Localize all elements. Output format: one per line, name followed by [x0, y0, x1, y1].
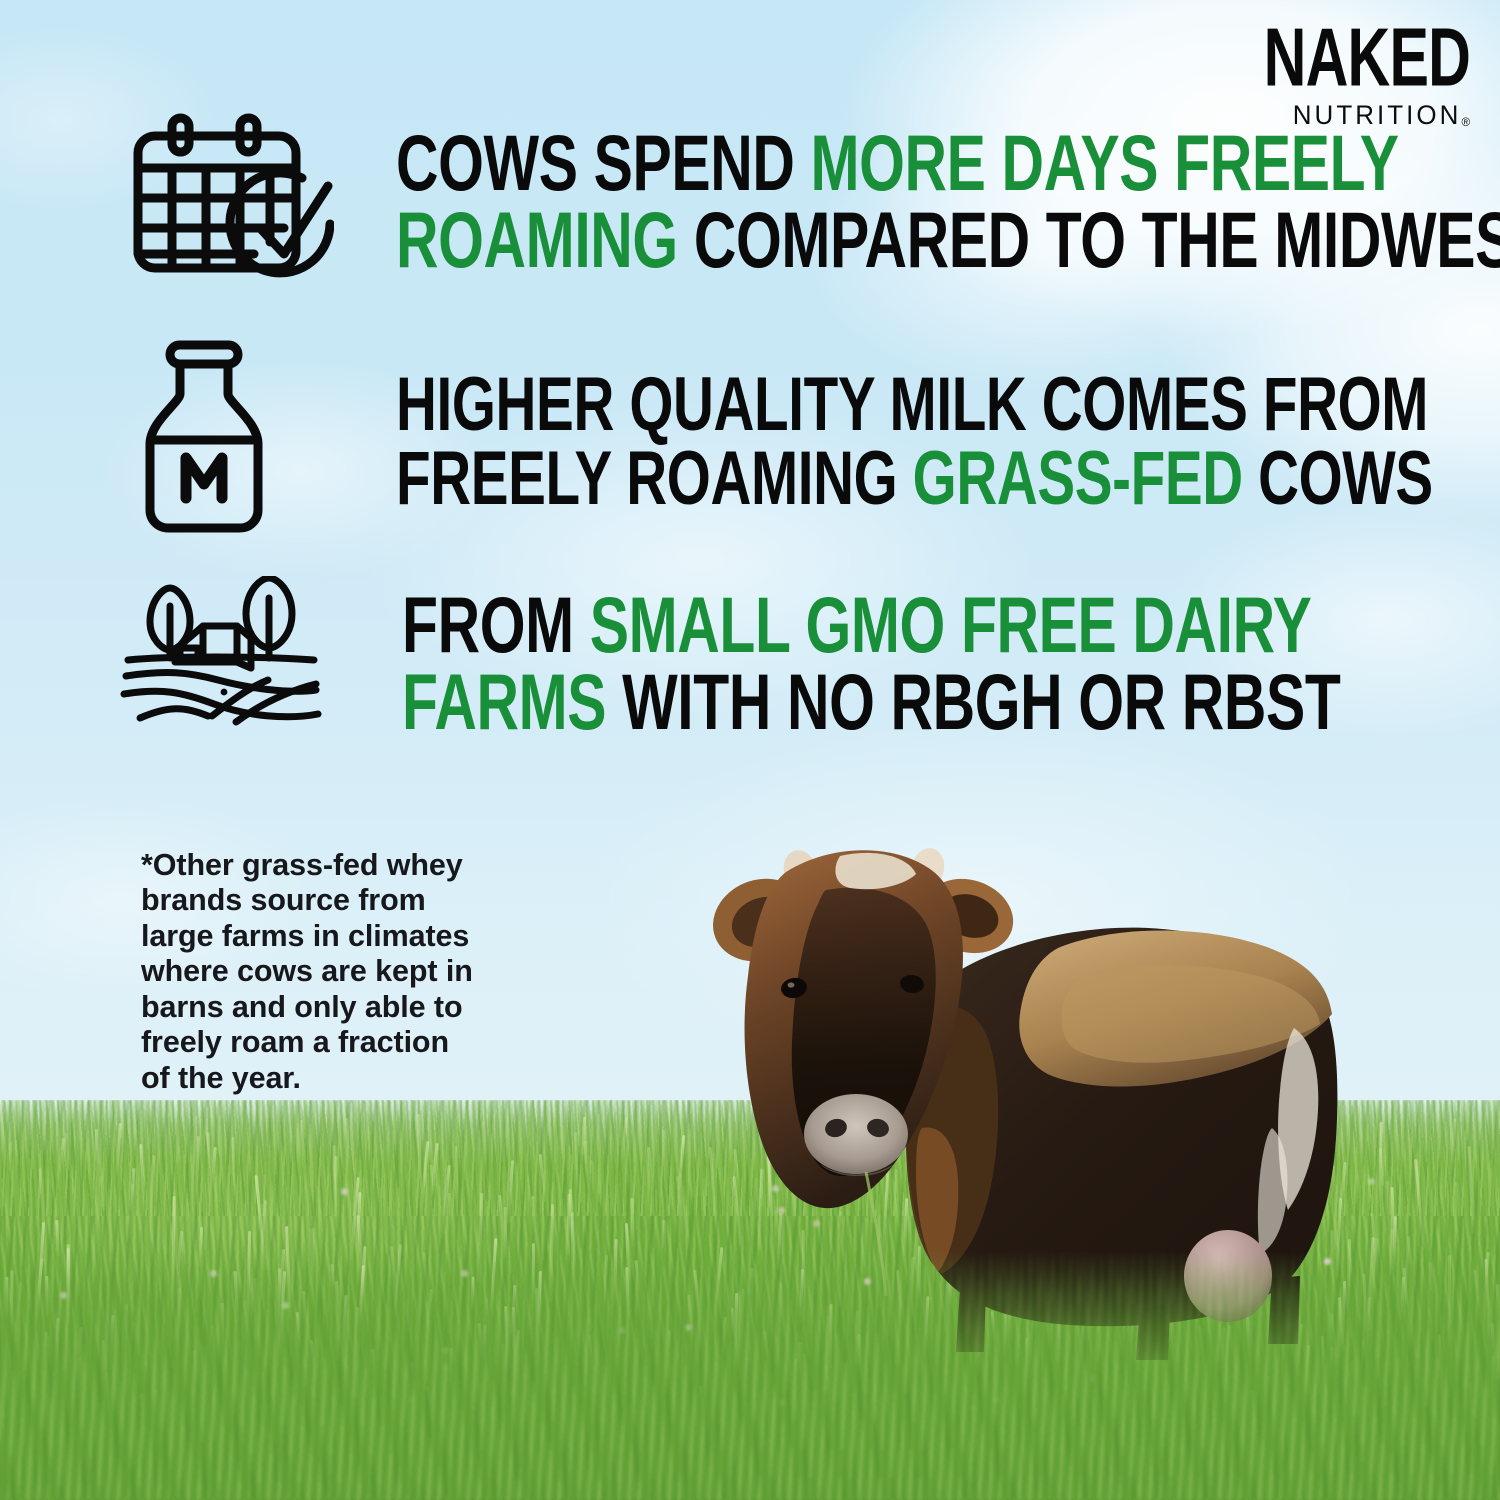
- grass-blade: [647, 1147, 654, 1190]
- grass-blade: [298, 1120, 303, 1170]
- feature-headline-2-line-2: FREELY ROAMING GRASS-FED COWS: [396, 442, 1433, 516]
- grass-blade: [1384, 1181, 1388, 1220]
- grass-blade: [6, 1142, 12, 1184]
- headline-segment: MORE DAYS FREELY: [810, 118, 1398, 207]
- grass-blade: [1414, 1159, 1425, 1250]
- headline-segment: FROM: [402, 580, 590, 669]
- headline-segment: FARMS: [402, 657, 606, 746]
- feature-row-calendar: COWS SPEND MORE DAYS FREELY ROAMING COMP…: [124, 112, 1500, 278]
- feature-headline-1-line-2: ROAMING COMPARED TO THE MIDWEST*: [396, 201, 1500, 278]
- wildflower: [341, 1188, 348, 1195]
- feature-row-milk: HIGHER QUALITY MILK COMES FROM FREELY RO…: [124, 340, 1500, 540]
- grass-blade: [621, 1117, 628, 1160]
- feature-headline-3-line-1: FROM SMALL GMO FREE DAIRY: [402, 586, 1340, 663]
- grass-blade: [1467, 1146, 1475, 1233]
- footnote-marker: *: [141, 848, 153, 882]
- footnote-text: Other grass-fed whey brands source from …: [141, 848, 473, 1095]
- brand-name: NAKED: [1264, 24, 1471, 92]
- headline-segment: ROAMING: [396, 195, 678, 284]
- grass-blade: [115, 1123, 122, 1176]
- grass-blade: [506, 1160, 513, 1223]
- farm-field-icon: [118, 576, 324, 726]
- feature-headline-1-line-1: COWS SPEND MORE DAYS FREELY: [396, 124, 1500, 201]
- grass-blade: [538, 1154, 545, 1198]
- infographic-canvas: NAKED NUTRITION®: [0, 0, 1500, 1500]
- headline-segment: WITH NO RBGH OR RBST: [606, 657, 1340, 746]
- grass-blade: [128, 1184, 134, 1239]
- feature-headline-2-line-1: HIGHER QUALITY MILK COMES FROM: [396, 368, 1433, 442]
- headline-segment: GRASS-FED: [913, 436, 1243, 521]
- headline-segment: COMPARED TO THE MIDWEST*: [678, 195, 1500, 284]
- headline-segment: COWS SPEND: [396, 118, 810, 207]
- headline-segment: SMALL GMO FREE DAIRY: [590, 580, 1312, 669]
- feature-row-farm: FROM SMALL GMO FREE DAIRY FARMS WITH NO …: [118, 576, 1500, 740]
- grass-blade: [482, 1121, 488, 1166]
- grass-blade: [210, 1147, 216, 1191]
- feature-headline-3-line-2: FARMS WITH NO RBGH OR RBST: [402, 663, 1340, 740]
- grass-blade: [139, 1144, 146, 1205]
- grass-blade: [147, 1155, 155, 1238]
- headline-segment: HIGHER QUALITY MILK COMES FROM: [396, 362, 1428, 447]
- calendar-check-icon: [124, 112, 324, 272]
- feature-headline-1: COWS SPEND MORE DAYS FREELY ROAMING COMP…: [396, 124, 1500, 278]
- grass-blade: [1454, 1182, 1459, 1211]
- grass-blade: [1450, 1118, 1456, 1171]
- grass-blade: [345, 1118, 350, 1172]
- feature-headline-3: FROM SMALL GMO FREE DAIRY FARMS WITH NO …: [402, 586, 1340, 740]
- headline-segment: FREELY ROAMING: [396, 436, 913, 521]
- cow-muzzle: [804, 1094, 908, 1174]
- footnote: *Other grass-fed whey brands source from…: [124, 812, 473, 1096]
- grass-blade: [417, 1114, 422, 1194]
- feature-headline-2: HIGHER QUALITY MILK COMES FROM FREELY RO…: [396, 368, 1433, 516]
- grass-blade: [589, 1160, 593, 1191]
- grass-blade: [454, 1146, 458, 1208]
- grass-blade: [260, 1200, 267, 1253]
- grass-blade: [332, 1145, 336, 1223]
- milk-bottle-icon: [124, 340, 324, 540]
- grass-blade: [231, 1137, 235, 1181]
- wildflower: [1368, 1178, 1375, 1185]
- grass-blade: [92, 1176, 102, 1259]
- grass-blade: [573, 1132, 578, 1186]
- grass-blade: [531, 1195, 535, 1233]
- foreground-grass: [0, 1250, 1500, 1500]
- cow-eye-left-glint: [788, 982, 795, 987]
- grass-blade: [631, 1198, 635, 1247]
- grass-blade: [583, 1141, 588, 1171]
- headline-segment: COWS: [1243, 436, 1433, 521]
